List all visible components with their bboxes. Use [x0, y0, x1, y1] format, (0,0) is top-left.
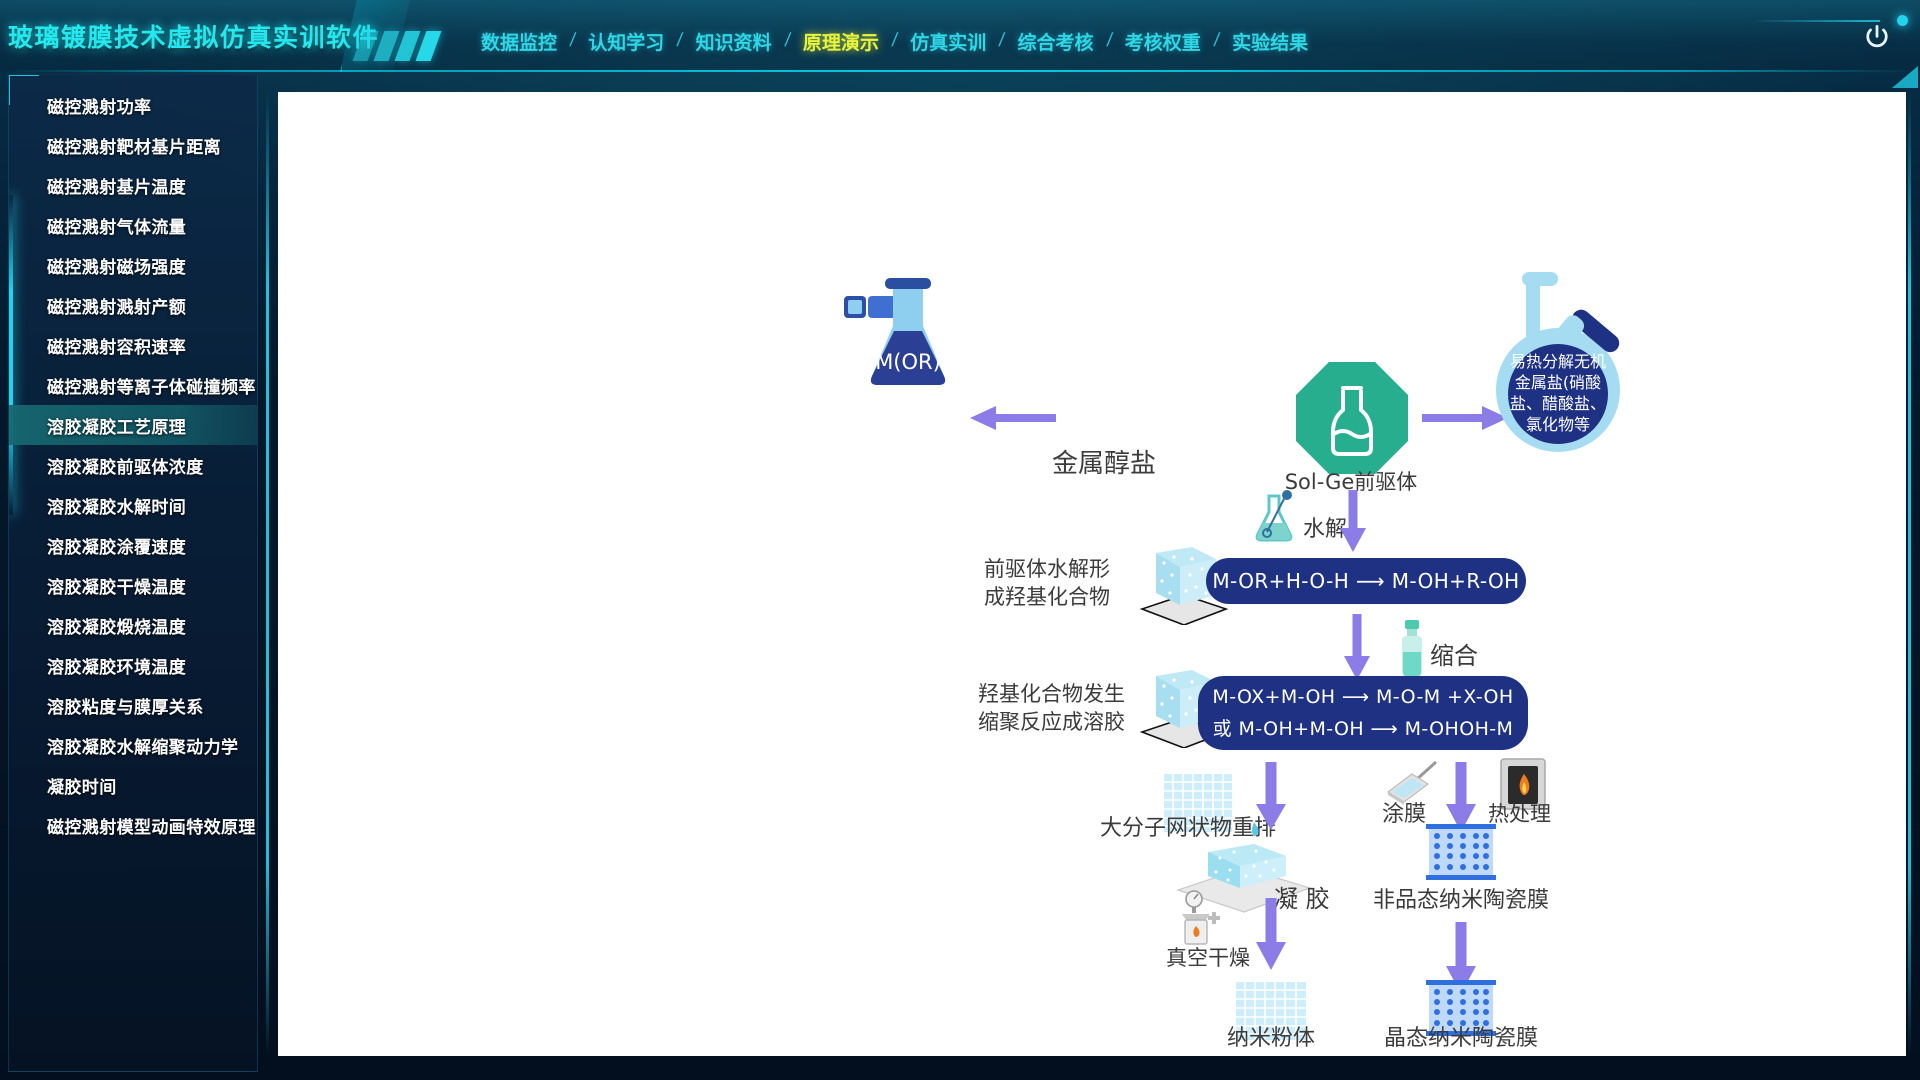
nav-item-7[interactable]: 实验结果 — [1219, 28, 1321, 55]
metal-alkoxide-label: 金属醇盐 — [1052, 447, 1156, 482]
sol-gel-precursor-icon — [1296, 362, 1408, 474]
arrow-left-to-alkoxide — [968, 404, 1058, 432]
arrow-down-hydrolysis — [1338, 490, 1368, 554]
sidebar-item-7[interactable]: 磁控溅射等离子体碰撞频率 — [9, 365, 257, 405]
sol-gel-process-diagram: M(OR) 金属醇盐 Sol-Ge前驱体 — [278, 92, 1906, 1056]
nav-item-0[interactable]: 数据监控 — [468, 28, 570, 55]
status-dot — [1897, 15, 1908, 26]
application-root: 玻璃镀膜技术虚拟仿真实训软件 数据监控 / 认知学习 / 知识资料 / 原理演示… — [0, 0, 1920, 1080]
amorphous-film-icon — [1426, 824, 1496, 880]
amorphous-film-label: 非品态纳米陶瓷膜 — [1373, 886, 1549, 916]
nav-item-6[interactable]: 考核权重 — [1112, 28, 1214, 55]
nav-item-1[interactable]: 认知学习 — [575, 28, 677, 55]
main-navigation: 数据监控 / 认知学习 / 知识资料 / 原理演示 / 仿真实训 / 综合考核 … — [468, 26, 1321, 56]
sidebar-item-13[interactable]: 溶胶凝胶煅烧温度 — [9, 605, 257, 645]
power-icon[interactable] — [1862, 22, 1892, 52]
inorganic-salt-note: 易热分解无机 金属盐(硝酸 盐、醋酸盐、 氯化物等 — [1508, 344, 1608, 444]
nav-item-5[interactable]: 综合考核 — [1004, 28, 1106, 55]
equation-box-condensation: M-OX+M-OH ⟶ M-O-M +X-OH 或 M-OH+M-OH ⟶ M-… — [1198, 676, 1528, 750]
sidebar-item-15[interactable]: 溶胶粘度与膜厚关系 — [9, 685, 257, 725]
vacuum-dry-icon — [1176, 890, 1230, 948]
eq1-line1: M-OR+H-O-H ⟶ M-OH+R-OH — [1212, 569, 1519, 593]
sidebar-item-9[interactable]: 溶胶凝胶前驱体浓度 — [9, 445, 257, 485]
sidebar-item-8-active[interactable]: 溶胶凝胶工艺原理 — [9, 405, 257, 445]
sidebar-item-16[interactable]: 溶胶凝胶水解缩聚动力学 — [9, 725, 257, 765]
principle-diagram-panel: M(OR) 金属醇盐 Sol-Ge前驱体 — [278, 92, 1906, 1056]
nav-item-3-active[interactable]: 原理演示 — [790, 28, 892, 55]
eq2-line1: M-OX+M-OH ⟶ M-O-M +X-OH — [1212, 686, 1513, 708]
arrow-down-to-powder — [1254, 898, 1288, 972]
equation-box-hydrolysis: M-OR+H-O-H ⟶ M-OH+R-OH — [1206, 558, 1526, 604]
sidebar: 磁控溅射功率 磁控溅射靶材基片距离 磁控溅射基片温度 磁控溅射气体流量 磁控溅射… — [8, 74, 258, 1072]
condensation-label: 缩合 — [1430, 640, 1478, 672]
sidebar-item-4[interactable]: 磁控溅射磁场强度 — [9, 245, 257, 285]
nav-item-2[interactable]: 知识资料 — [683, 28, 785, 55]
sidebar-item-1[interactable]: 磁控溅射靶材基片距离 — [9, 125, 257, 165]
sidebar-item-3[interactable]: 磁控溅射气体流量 — [9, 205, 257, 245]
sidebar-item-5[interactable]: 磁控溅射溅射产额 — [9, 285, 257, 325]
heat-treatment-label: 热处理 — [1488, 800, 1551, 828]
condensation-bottle-icon — [1396, 620, 1428, 678]
crystal-film-label: 晶态纳米陶瓷膜 — [1384, 1024, 1538, 1054]
sidebar-item-17[interactable]: 凝胶时间 — [9, 765, 257, 805]
eq2-caption: 羟基化合物发生 缩聚反应成溶胶 — [978, 680, 1125, 737]
content-left-edge — [266, 92, 269, 1056]
header-underline — [0, 70, 1920, 72]
app-header: 玻璃镀膜技术虚拟仿真实训软件 数据监控 / 认知学习 / 知识资料 / 原理演示… — [0, 0, 1920, 72]
metal-alkoxide-flask-icon: M(OR) — [838, 252, 968, 392]
content-right-edge — [1908, 92, 1911, 1056]
sidebar-item-6[interactable]: 磁控溅射容积速率 — [9, 325, 257, 365]
nav-item-4[interactable]: 仿真实训 — [897, 28, 999, 55]
nano-powder-label: 纳米粉体 — [1227, 1024, 1315, 1054]
hydrolysis-flask-icon — [1253, 490, 1299, 542]
slash-logo-icon — [358, 31, 454, 61]
sidebar-item-list: 磁控溅射功率 磁控溅射靶材基片距离 磁控溅射基片温度 磁控溅射气体流量 磁控溅射… — [9, 75, 257, 845]
sidebar-item-10[interactable]: 溶胶凝胶水解时间 — [9, 485, 257, 525]
sidebar-item-12[interactable]: 溶胶凝胶干燥温度 — [9, 565, 257, 605]
sidebar-item-2[interactable]: 磁控溅射基片温度 — [9, 165, 257, 205]
coating-label: 涂膜 — [1382, 800, 1426, 830]
vacuum-dry-label: 真空干燥 — [1166, 944, 1250, 972]
svg-text:M(OR): M(OR) — [875, 350, 941, 374]
sidebar-item-14[interactable]: 溶胶凝胶环境温度 — [9, 645, 257, 685]
sidebar-item-0[interactable]: 磁控溅射功率 — [9, 85, 257, 125]
corner-line-decoration — [1750, 20, 1880, 22]
arrow-down-condensation — [1342, 614, 1372, 682]
page-title: 玻璃镀膜技术虚拟仿真实训软件 — [8, 18, 379, 54]
sidebar-item-18[interactable]: 磁控溅射模型动画特效原理 — [9, 805, 257, 845]
sidebar-item-11[interactable]: 溶胶凝胶涂覆速度 — [9, 525, 257, 565]
eq1-caption: 前驱体水解形 成羟基化合物 — [984, 555, 1110, 612]
eq2-line2: 或 M-OH+M-OH ⟶ M-OHOH-M — [1213, 714, 1514, 741]
